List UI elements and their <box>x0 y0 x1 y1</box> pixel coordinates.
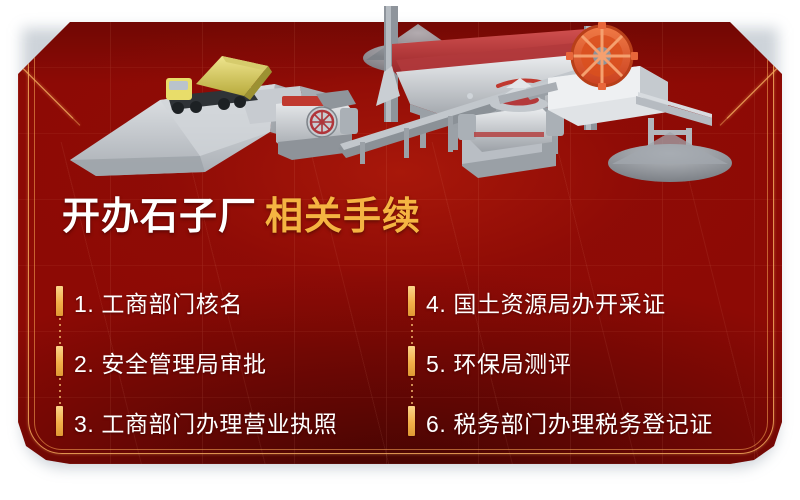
list-item-label: 1. 工商部门核名 <box>74 285 243 319</box>
procedure-list: 1. 工商部门核名 4. 国土资源局办开采证 2. 安全管理局审批 5. 环保局… <box>56 272 756 452</box>
list-item-label: 6. 税务部门办理税务登记证 <box>426 405 713 439</box>
list-item-label: 5. 环保局测评 <box>426 345 571 379</box>
step-marker-bar <box>408 406 415 436</box>
chamfer-line-top-right-outer <box>727 57 782 119</box>
step-marker-bar <box>56 346 63 376</box>
list-item[interactable]: 2. 安全管理局审批 <box>56 332 408 392</box>
step-marker-bar <box>56 286 63 316</box>
list-item[interactable]: 5. 环保局测评 <box>408 332 756 392</box>
list-item[interactable]: 1. 工商部门核名 <box>56 272 408 332</box>
title-gold-part: 相关手续 <box>265 196 421 238</box>
list-item[interactable]: 6. 税务部门办理税务登记证 <box>408 392 756 452</box>
step-marker-bar <box>408 286 415 316</box>
chamfer-line-top-right-inner <box>720 64 782 126</box>
list-item[interactable]: 4. 国土资源局办开采证 <box>408 272 756 332</box>
list-item-label: 4. 国土资源局办开采证 <box>426 285 666 319</box>
chamfer-line-top-left-outer <box>18 57 73 119</box>
step-marker-bar <box>56 406 63 436</box>
list-item[interactable]: 3. 工商部门办理营业执照 <box>56 392 408 452</box>
list-item-label: 2. 安全管理局审批 <box>74 345 267 379</box>
step-marker-bar <box>408 346 415 376</box>
title-white-part: 开办石子厂 <box>62 196 257 238</box>
list-item-label: 3. 工商部门办理营业执照 <box>74 405 337 439</box>
page-title: 开办石子厂相关手续 <box>62 198 421 236</box>
chamfer-line-top-left-inner <box>19 64 81 126</box>
infographic-stage: 开办石子厂相关手续 1. 工商部门核名 4. 国土资源局办开采证 2. 安全管理… <box>0 0 800 500</box>
